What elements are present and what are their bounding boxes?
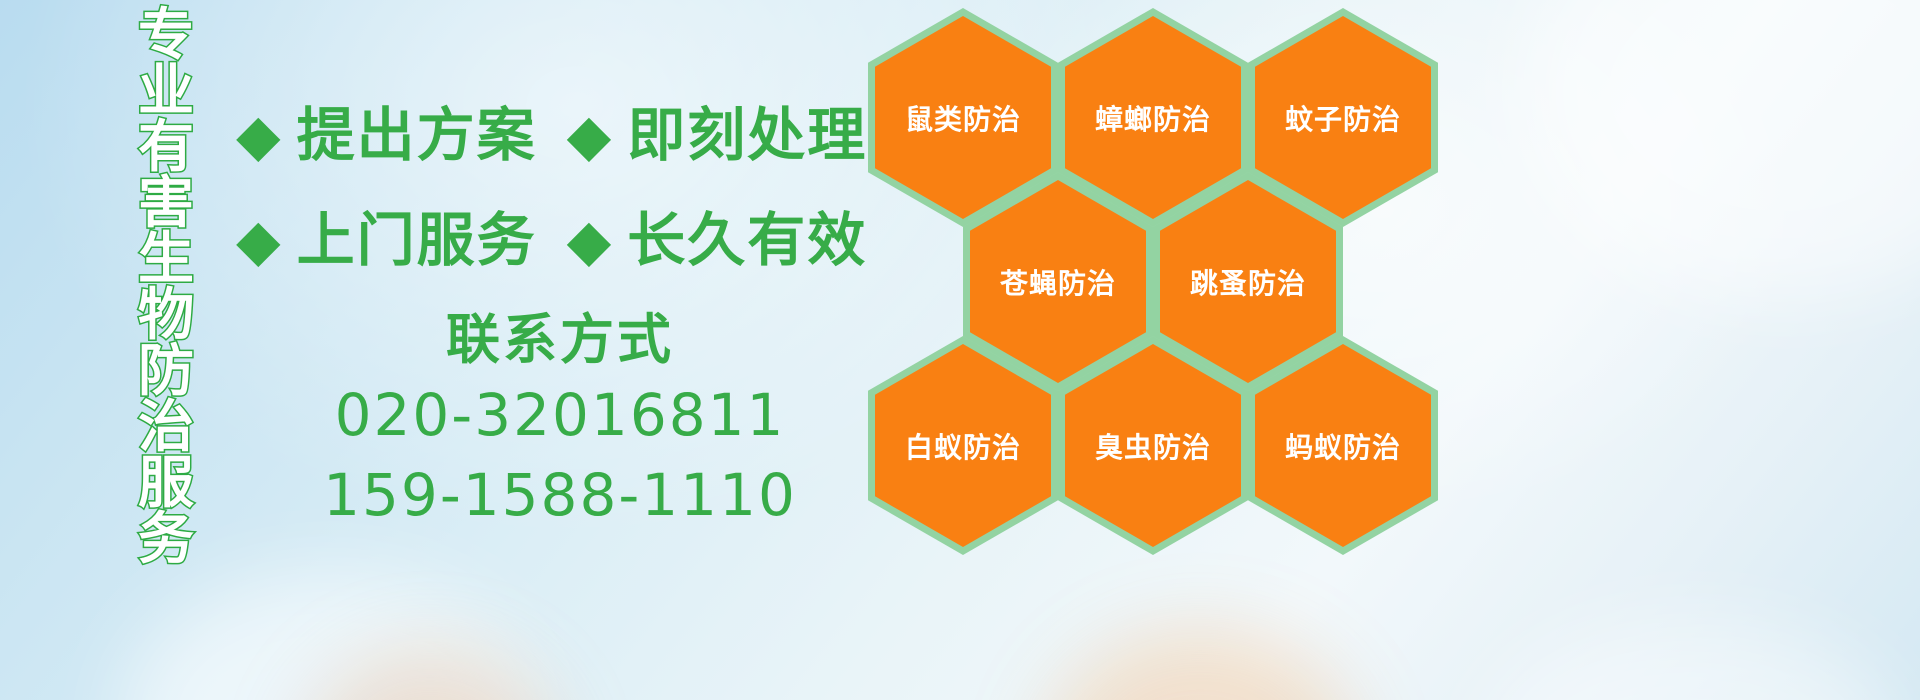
contact-block: 联系方式 020-32016811 159-1588-1110 xyxy=(300,305,820,535)
promo-banner: 专 业 有 害 生 物 防 治 服 务 ◆ 提出方案 ◆ 即刻处理 ◆ 上门服务… xyxy=(0,0,1920,700)
vertical-title-char: 治 xyxy=(138,400,194,456)
feature-label: 提出方案 xyxy=(297,105,537,165)
feature-row: ◆ 提出方案 ◆ 即刻处理 xyxy=(236,82,897,187)
feature-list: ◆ 提出方案 ◆ 即刻处理 ◆ 上门服务 ◆ 长久有效 xyxy=(236,82,897,292)
service-hex-label: 苍蝇防治 xyxy=(1000,262,1116,302)
background-wash-right xyxy=(1480,620,1900,700)
vertical-title-char: 有 xyxy=(138,120,194,176)
diamond-bullet-icon: ◆ xyxy=(236,106,281,164)
background-wash-left-warm xyxy=(300,650,560,700)
feature-label: 即刻处理 xyxy=(627,105,867,165)
vertical-title-char: 专 xyxy=(138,8,194,64)
service-hex-label: 蚊子防治 xyxy=(1285,98,1401,138)
diamond-bullet-icon: ◆ xyxy=(236,211,281,269)
service-hex-label: 鼠类防治 xyxy=(905,98,1021,138)
vertical-title-char: 服 xyxy=(138,456,194,512)
feature-label: 长久有效 xyxy=(627,210,867,270)
vertical-title: 专 业 有 害 生 物 防 治 服 务 xyxy=(112,8,220,568)
service-hex-label: 白蚁防治 xyxy=(905,426,1021,466)
service-honeycomb: 鼠类防治 蟑螂防治 蚊子防治 苍蝇防治 跳蚤防治 白蚁防治 臭虫防治 xyxy=(860,0,1480,560)
phone-landline[interactable]: 020-32016811 xyxy=(300,375,820,455)
feature-label: 上门服务 xyxy=(297,210,537,270)
vertical-title-char: 生 xyxy=(138,232,194,288)
background-wash-topright xyxy=(1520,0,1920,300)
service-hex-label: 跳蚤防治 xyxy=(1190,262,1306,302)
vertical-title-char: 防 xyxy=(138,344,194,400)
service-hex-label: 臭虫防治 xyxy=(1095,426,1211,466)
contact-title: 联系方式 xyxy=(300,305,820,375)
service-hex-label: 蚂蚁防治 xyxy=(1285,426,1401,466)
service-hex-label: 蟑螂防治 xyxy=(1095,98,1211,138)
diamond-bullet-icon: ◆ xyxy=(567,211,612,269)
vertical-title-char: 害 xyxy=(138,176,194,232)
feature-row: ◆ 上门服务 ◆ 长久有效 xyxy=(236,187,897,292)
background-wash-left xyxy=(120,570,540,700)
phone-mobile[interactable]: 159-1588-1110 xyxy=(300,455,820,535)
vertical-title-char: 务 xyxy=(138,512,194,568)
background-wash-center-warm xyxy=(1040,630,1360,700)
vertical-title-char: 业 xyxy=(138,64,194,120)
vertical-title-char: 物 xyxy=(138,288,194,344)
diamond-bullet-icon: ◆ xyxy=(567,106,612,164)
